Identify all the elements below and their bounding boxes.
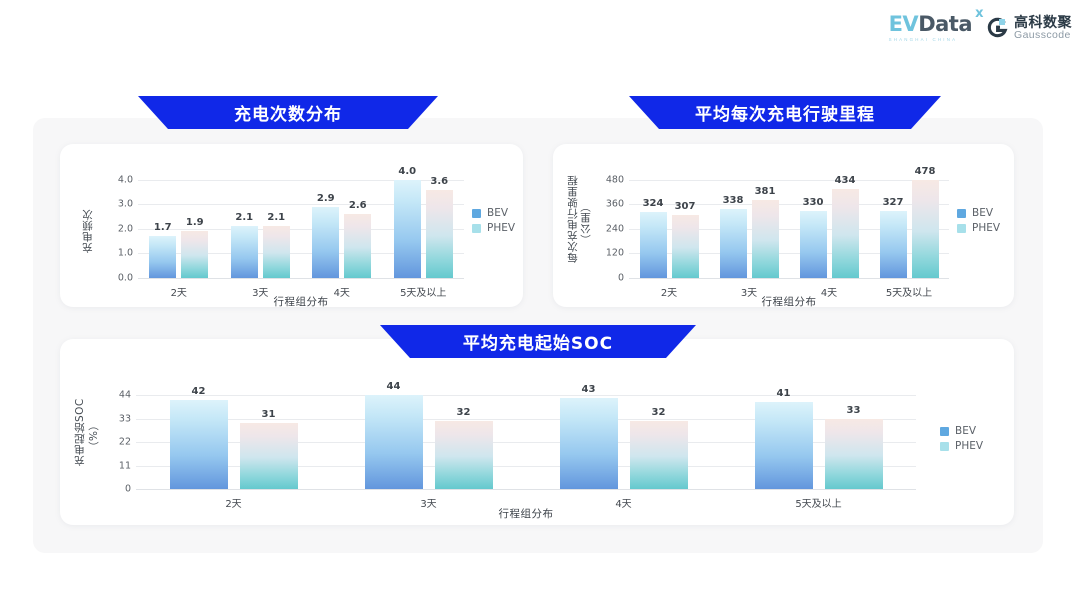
bar-value-label: 32 xyxy=(457,407,471,418)
chart2-y-axis-label-main: 每次充电行驶里程 xyxy=(567,164,580,274)
chart-title-banner-avg-range: 平均每次充电行驶里程 xyxy=(629,96,941,129)
bar-group: 324307 xyxy=(629,170,709,278)
evdata-ev-text: EV xyxy=(889,12,919,36)
y-tick-label: 240 xyxy=(606,223,624,234)
chart2-x-axis-label: 行程组分布 xyxy=(629,294,949,309)
slide-canvas: EVDatax SHANGHAI CHINA 高科数聚 Gausscode 充电… xyxy=(0,0,1080,608)
x-axis-line xyxy=(138,278,464,279)
bar-bev-5天及以上[interactable]: 4.0 xyxy=(394,180,421,278)
bar-value-label: 33 xyxy=(847,405,861,416)
legend-swatch-bev-icon xyxy=(940,427,949,436)
bar-value-label: 1.7 xyxy=(154,222,172,233)
brand-logo-bar: EVDatax SHANGHAI CHINA 高科数聚 Gausscode xyxy=(889,14,1072,42)
bar-bev-3天[interactable]: 44 xyxy=(365,395,423,489)
bar-value-label: 381 xyxy=(755,186,776,197)
bar-group: 4133 xyxy=(721,386,916,489)
gausscode-cn-name: 高科数聚 xyxy=(1014,15,1072,30)
bar-value-label: 4.0 xyxy=(398,166,416,177)
evdata-superscript-x: x xyxy=(975,7,983,20)
bar-value-label: 3.6 xyxy=(430,176,448,187)
chart-charging-frequency: 充电频次 0.01.02.03.04.0 1.71.92.12.12.92.64… xyxy=(60,144,523,307)
bar-phev-4天[interactable]: 2.6 xyxy=(344,214,371,278)
legend-label-bev: BEV xyxy=(487,207,508,219)
bar-group: 4432 xyxy=(331,386,526,489)
y-tick-label: 120 xyxy=(606,248,624,259)
y-tick-label: 0 xyxy=(618,273,624,284)
bar-group: 327478 xyxy=(869,170,949,278)
bar-group: 330434 xyxy=(789,170,869,278)
bar-value-label: 324 xyxy=(643,198,664,209)
bar-value-label: 41 xyxy=(777,388,791,399)
legend-swatch-phev-icon xyxy=(957,224,966,233)
x-axis-line xyxy=(629,278,949,279)
bar-phev-5天及以上[interactable]: 33 xyxy=(825,419,883,489)
chart2-plot-area: 324307338381330434327478 xyxy=(629,170,949,278)
y-tick-label: 4.0 xyxy=(118,174,133,185)
legend-swatch-phev-icon xyxy=(472,224,481,233)
chart1-x-axis-label: 行程组分布 xyxy=(138,294,464,309)
chart1-plot-area: 1.71.92.12.12.92.64.03.6 xyxy=(138,170,464,278)
bar-value-label: 32 xyxy=(652,407,666,418)
bar-bev-4天[interactable]: 43 xyxy=(560,398,618,490)
legend-swatch-phev-icon xyxy=(940,442,949,451)
legend-item-bev[interactable]: BEV xyxy=(957,207,1000,219)
legend-label-bev: BEV xyxy=(972,207,993,219)
bar-value-label: 330 xyxy=(803,197,824,208)
legend-label-phev: PHEV xyxy=(487,222,515,234)
evdata-data-text: Data xyxy=(918,12,972,36)
bar-value-label: 43 xyxy=(582,384,596,395)
bar-phev-3天[interactable]: 381 xyxy=(752,200,779,278)
bar-group: 4.03.6 xyxy=(383,170,465,278)
evdata-wordmark: EVDatax xyxy=(889,14,972,35)
chart3-plot-area: 4231443243324133 xyxy=(136,386,916,489)
legend-item-phev[interactable]: PHEV xyxy=(957,222,1000,234)
bar-value-label: 2.6 xyxy=(349,200,367,211)
legend-swatch-bev-icon xyxy=(957,209,966,218)
bar-bev-3天[interactable]: 2.1 xyxy=(231,226,258,278)
y-tick-label: 0.0 xyxy=(118,273,133,284)
bar-phev-5天及以上[interactable]: 3.6 xyxy=(426,190,453,278)
bar-value-label: 44 xyxy=(387,381,401,392)
bar-phev-3天[interactable]: 32 xyxy=(435,421,493,489)
bar-phev-2天[interactable]: 307 xyxy=(672,215,699,278)
legend-item-phev[interactable]: PHEV xyxy=(940,440,983,452)
chart3-x-axis-label: 行程组分布 xyxy=(136,506,916,521)
bar-bev-2天[interactable]: 42 xyxy=(170,400,228,489)
chart3-legend: BEV PHEV xyxy=(940,425,983,452)
legend-item-bev[interactable]: BEV xyxy=(472,207,515,219)
bar-value-label: 478 xyxy=(915,166,936,177)
bar-phev-2天[interactable]: 1.9 xyxy=(181,231,208,278)
bar-value-label: 2.1 xyxy=(267,212,285,223)
bar-bev-4天[interactable]: 2.9 xyxy=(312,207,339,278)
bar-bev-2天[interactable]: 1.7 xyxy=(149,236,176,278)
bar-value-label: 307 xyxy=(675,201,696,212)
bar-value-label: 434 xyxy=(835,175,856,186)
chart2-y-axis-label-unit: （公里） xyxy=(580,196,593,250)
chart2-legend: BEV PHEV xyxy=(957,207,1000,234)
chart-avg-range-per-charge: 每次充电行驶里程 （公里） 0120240360480 324307338381… xyxy=(553,144,1014,307)
chart-title-text: 平均每次充电行驶里程 xyxy=(695,100,875,125)
bar-value-label: 338 xyxy=(723,195,744,206)
gausscode-logo: 高科数聚 Gausscode xyxy=(986,15,1072,41)
bar-bev-3天[interactable]: 338 xyxy=(720,209,747,278)
bar-value-label: 31 xyxy=(262,409,276,420)
gausscode-mark-icon xyxy=(986,17,1008,39)
bar-phev-4天[interactable]: 434 xyxy=(832,189,859,278)
chart-title-text: 充电次数分布 xyxy=(234,100,342,125)
bar-bev-5天及以上[interactable]: 327 xyxy=(880,211,907,278)
bar-group: 338381 xyxy=(709,170,789,278)
x-axis-line xyxy=(136,489,916,490)
bar-group: 4332 xyxy=(526,386,721,489)
chart-avg-start-soc: 充电起始SOC （%） 011223344 4231443243324133 2… xyxy=(60,339,1014,525)
evdata-tagline: SHANGHAI CHINA xyxy=(889,37,958,42)
bar-group: 4231 xyxy=(136,386,331,489)
evdata-logo: EVDatax SHANGHAI CHINA xyxy=(889,14,972,42)
bar-phev-2天[interactable]: 31 xyxy=(240,423,298,489)
y-tick-label: 1.0 xyxy=(118,248,133,259)
y-tick-label: 33 xyxy=(119,413,131,424)
y-tick-label: 22 xyxy=(119,437,131,448)
bar-phev-5天及以上[interactable]: 478 xyxy=(912,180,939,278)
bar-group: 2.12.1 xyxy=(220,170,302,278)
legend-label-bev: BEV xyxy=(955,425,976,437)
bar-phev-3天[interactable]: 2.1 xyxy=(263,226,290,278)
chart-title-banner-charging-frequency: 充电次数分布 xyxy=(138,96,438,129)
bar-value-label: 327 xyxy=(883,197,904,208)
bar-bev-2天[interactable]: 324 xyxy=(640,212,667,278)
chart1-y-axis-label: 充电频次 xyxy=(82,188,96,274)
bar-value-label: 2.9 xyxy=(317,193,335,204)
y-tick-label: 360 xyxy=(606,199,624,210)
legend-label-phev: PHEV xyxy=(955,440,983,452)
y-tick-label: 11 xyxy=(119,460,131,471)
bar-bev-5天及以上[interactable]: 41 xyxy=(755,402,813,489)
bar-group: 2.92.6 xyxy=(301,170,383,278)
gausscode-names: 高科数聚 Gausscode xyxy=(1014,15,1072,41)
y-tick-label: 0 xyxy=(125,484,131,495)
y-tick-label: 44 xyxy=(119,390,131,401)
bar-value-label: 2.1 xyxy=(235,212,253,223)
bar-bev-4天[interactable]: 330 xyxy=(800,211,827,279)
y-tick-label: 480 xyxy=(606,174,624,185)
legend-label-phev: PHEV xyxy=(972,222,1000,234)
bar-group: 1.71.9 xyxy=(138,170,220,278)
bar-value-label: 42 xyxy=(192,386,206,397)
legend-swatch-bev-icon xyxy=(472,209,481,218)
bar-phev-4天[interactable]: 32 xyxy=(630,421,688,489)
legend-item-phev[interactable]: PHEV xyxy=(472,222,515,234)
legend-item-bev[interactable]: BEV xyxy=(940,425,983,437)
bar-value-label: 1.9 xyxy=(186,217,204,228)
chart3-y-axis-label-unit: （%） xyxy=(88,419,101,453)
gausscode-en-name: Gausscode xyxy=(1014,30,1072,41)
chart1-legend: BEV PHEV xyxy=(472,207,515,234)
y-tick-label: 2.0 xyxy=(118,223,133,234)
chart3-y-axis-label-main: 充电起始SOC xyxy=(74,385,88,479)
y-tick-label: 3.0 xyxy=(118,199,133,210)
